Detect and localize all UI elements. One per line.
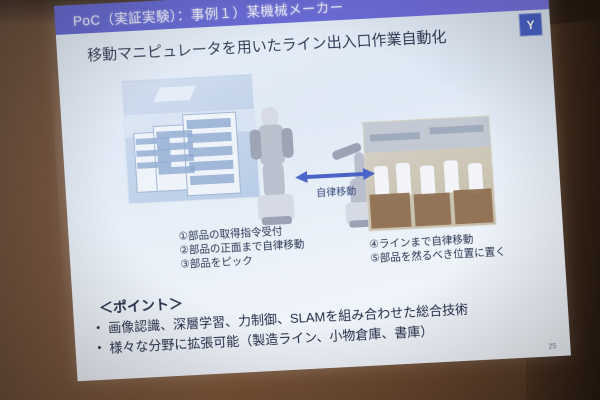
factory-worker [396,163,412,196]
workbench [414,193,452,227]
arrow-label: 自律移動 [294,181,379,200]
page-number: 25 [548,343,556,350]
warehouse-shelving-photo [121,74,261,205]
steps-list-left: ①部品の取得指令受付 ②部品の正面まで自律移動 ③部品をピック [178,223,305,272]
workbench [453,188,493,224]
factory-worker [443,160,459,193]
factory-assembly-line-photo [362,115,497,231]
bullet-icon: • [97,338,102,357]
robot-column [262,162,285,197]
presentation-slide: PoC（実証実験）：事例１）某機械メーカー Y 移動マニピュレータを用いたライン… [54,0,571,381]
company-logo: Y [518,13,542,37]
robot-arm-left [249,129,262,160]
ceiling-light-shape [153,86,196,102]
bullet-icon: • [96,319,101,338]
factory-worker [420,165,436,196]
robot-arm-right [281,128,294,159]
steps-list-right: ④ラインまで自律移動 ⑤部品を然るべき位置に置く [369,231,506,266]
projected-slide-area: PoC（実証実験）：事例１）某機械メーカー Y 移動マニピュレータを用いたライン… [54,0,571,387]
autonomous-movement-arrow-group: 自律移動 [293,165,379,203]
slide-title: PoC（実証実験）：事例１）某機械メーカー [54,0,344,30]
logo-glyph-icon: Y [526,18,535,30]
